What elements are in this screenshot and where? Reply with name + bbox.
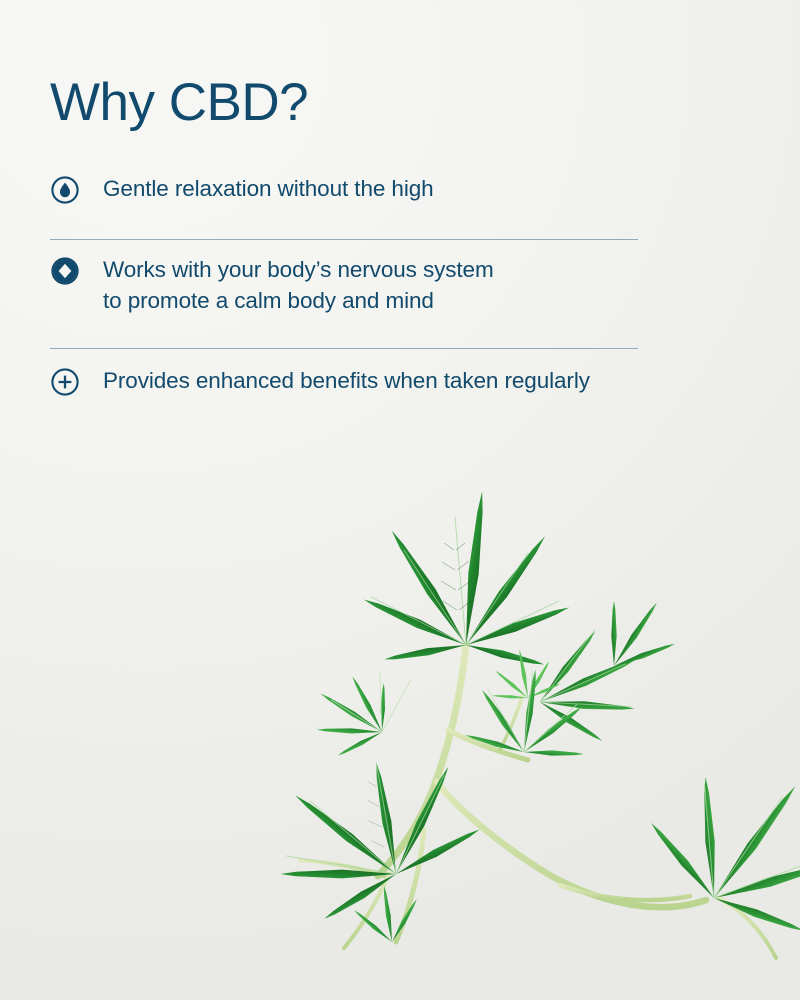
list-item: Gentle relaxation without the high — [50, 167, 638, 217]
leaf-bottom-right — [630, 735, 800, 944]
promo-card: Why CBD? Gentle relaxation without the h… — [0, 0, 800, 1000]
leaf-middle — [463, 661, 594, 763]
leaf-right-upper — [531, 620, 652, 750]
plus-circle-icon — [50, 367, 80, 397]
leaf-upper-right-small — [581, 581, 690, 690]
divider — [50, 239, 638, 240]
page-title: Why CBD? — [50, 0, 750, 131]
divider — [50, 348, 638, 349]
leaf-center-small — [485, 643, 563, 705]
benefit-label: Provides enhanced benefits when taken re… — [103, 365, 590, 396]
list-item: Works with your body’s nervous system to… — [50, 240, 638, 330]
cannabis-plant-photo — [0, 430, 800, 1000]
leaf-top — [362, 491, 571, 668]
leaf-lower-left — [273, 755, 487, 925]
leaf-bottom-sprig — [348, 878, 427, 951]
benefit-label: Gentle relaxation without the high — [103, 173, 434, 204]
list-item: Provides enhanced benefits when taken re… — [50, 349, 638, 409]
diamond-circle-icon — [50, 256, 80, 286]
leaf-mid-left — [317, 671, 411, 758]
content-column: Why CBD? Gentle relaxation without the h… — [50, 0, 750, 409]
plant-stems — [300, 645, 776, 958]
benefit-label: Works with your body’s nervous system to… — [103, 254, 494, 316]
droplet-circle-icon — [50, 175, 80, 205]
benefit-list: Gentle relaxation without the high — [50, 167, 638, 409]
